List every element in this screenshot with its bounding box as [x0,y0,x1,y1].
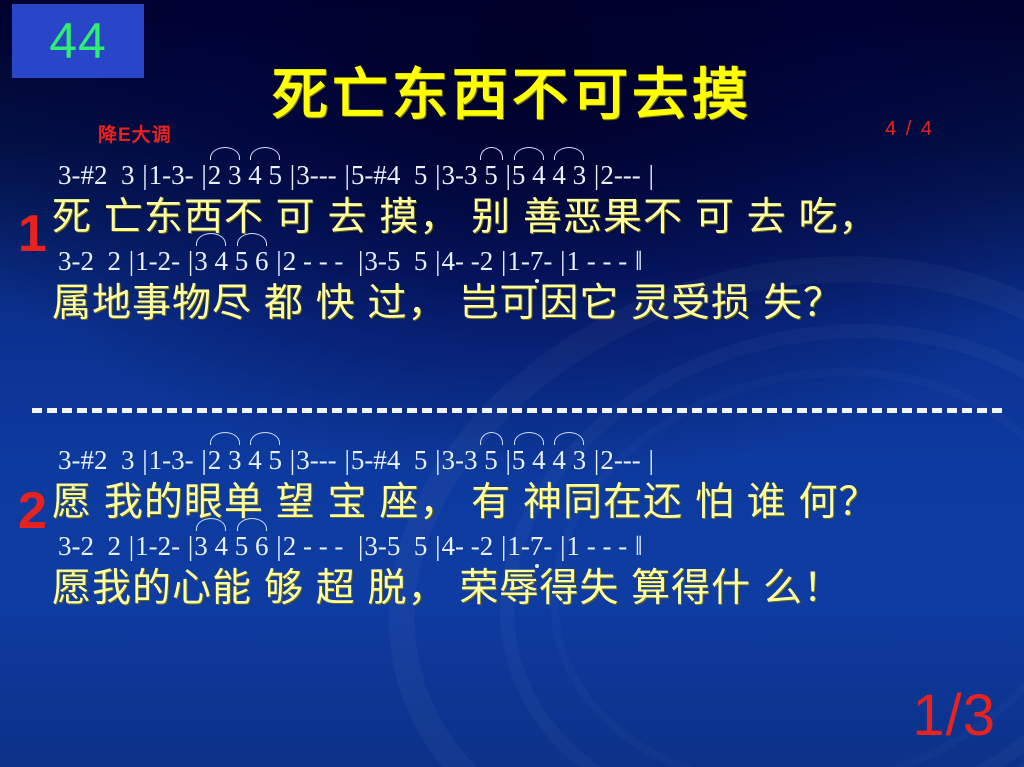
verse-divider [32,408,1002,413]
staff-row: 3-#2 3 |1-3- |2 3 4 5 |3--- |5-#4 5 |3-3… [0,160,1024,208]
time-signature-label: 4 / 4 [885,118,934,141]
page-indicator: 1/3 [912,687,996,745]
key-signature-label: 降E大调 [98,120,172,147]
verse-block-2: 2 3-#2 3 |1-3- |2 3 4 5 |3--- |5-#4 5 |3… [0,445,1024,579]
staff-row: 3-#2 3 |1-3- |2 3 4 5 |3--- |5-#4 5 |3-3… [0,445,1024,493]
staff-row: 3-2 2 |1-2- |3 4 5 6 |2 - - - |3-5 5 |4-… [0,246,1024,294]
lyrics-line: 愿 我的眼单 望 宝 座， 有 神同在还 怕 谁 何？ [52,471,1014,527]
song-title: 死亡东西不可去摸 [0,50,1024,131]
lyrics-line: 死 亡东西不 可 去 摸， 别 善恶果不 可 去 吃， [52,186,1014,242]
verse-block-1: 1 3-#2 3 |1-3- |2 3 4 5 |3--- |5-#4 5 |3… [0,160,1024,294]
staff-row: 3-2 2 |1-2- |3 4 5 6 |2 - - - |3-5 5 |4-… [0,531,1024,579]
lyrics-line: 愿我的心能 够 超 脱， 荣辱得失 算得什 么！ [52,557,1014,613]
lyrics-line: 属地事物尽 都 快 过， 岂可因它 灵受损 失？ [52,272,1014,328]
song-slide: 44 死亡东西不可去摸 降E大调 4 / 4 1 3-#2 3 |1-3- |2… [0,0,1024,767]
